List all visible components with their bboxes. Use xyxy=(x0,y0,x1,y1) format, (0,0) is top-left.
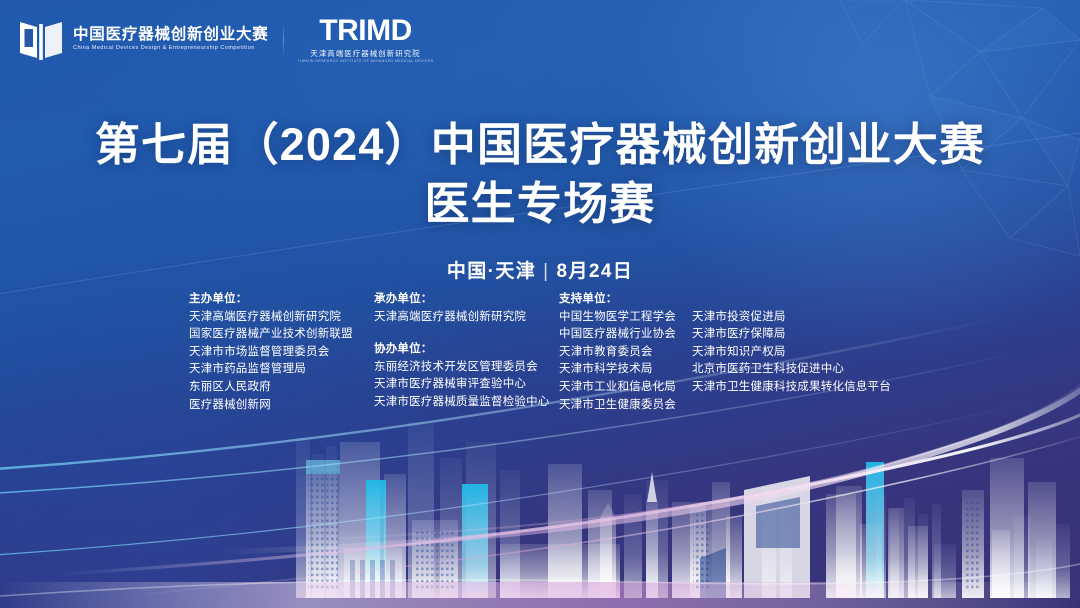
trimd-logo-en: TIANJIN RESEARCH INSTITUTE OF ADVANCED M… xyxy=(298,60,434,64)
competition-logo-cn: 中国医疗器械创新创业大赛 xyxy=(73,27,269,43)
event-poster: 中国医疗器械创新创业大赛 China Medical Devices Desig… xyxy=(0,0,1080,608)
organizer-item: 天津高端医疗器械创新研究院 xyxy=(189,309,374,327)
organizers-column-1: 主办单位： 天津高端医疗器械创新研究院 国家医疗器械产业技术创新联盟 天津市市场… xyxy=(189,291,374,414)
group-heading: 支持单位： xyxy=(559,291,692,309)
group-heading: 承办单位： xyxy=(374,291,559,309)
organizer-item: 天津市知识产权局 xyxy=(692,344,891,362)
organizer-group: 协办单位： 东丽经济技术开发区管理委员会 天津市医疗器械审评查验中心 天津市医疗… xyxy=(374,341,559,411)
organizer-group: 天津市投资促进局 天津市医疗保障局 天津市知识产权局 北京市医药卫生科技促进中心… xyxy=(692,291,891,397)
organizer-item: 天津市医疗器械审评查验中心 xyxy=(374,376,559,394)
event-date: 8月24日 xyxy=(556,261,633,282)
trimd-logo: TRIMD 天津高端医疗器械创新研究院 TIANJIN RESEARCH INS… xyxy=(298,16,434,64)
organizer-item: 天津市卫生健康科技成果转化信息平台 xyxy=(692,379,891,397)
meta-separator: | xyxy=(543,261,549,283)
event-meta: 中国·天津|8月24日 xyxy=(0,256,1080,283)
organizer-item: 天津市投资促进局 xyxy=(692,309,891,327)
organizer-item: 东丽经济技术开发区管理委员会 xyxy=(374,359,559,377)
organizers-block: 主办单位： 天津高端医疗器械创新研究院 国家医疗器械产业技术创新联盟 天津市市场… xyxy=(189,291,891,414)
organizer-item: 天津高端医疗器械创新研究院 xyxy=(374,309,559,327)
organizers-column-2: 承办单位： 天津高端医疗器械创新研究院 协办单位： 东丽经济技术开发区管理委员会… xyxy=(374,291,559,412)
organizer-item: 天津市科学技术局 xyxy=(559,361,692,379)
organizer-item: 国家医疗器械产业技术创新联盟 xyxy=(189,326,374,344)
organizer-item: 天津市医疗器械质量监督检验中心 xyxy=(374,394,559,412)
trimd-logo-cn: 天津高端医疗器械创新研究院 xyxy=(310,50,420,57)
logo-divider xyxy=(283,23,284,57)
organizer-item: 北京市医药卫生科技促进中心 xyxy=(692,361,891,379)
organizers-column-4: 天津市投资促进局 天津市医疗保障局 天津市知识产权局 北京市医药卫生科技促进中心… xyxy=(692,291,891,397)
event-location: 中国·天津 xyxy=(447,261,536,282)
page-title-line1: 第七届（2024）中国医疗器械创新创业大赛 xyxy=(0,118,1080,173)
competition-logo-en: China Medical Devices Design & Entrepren… xyxy=(73,46,269,52)
organizer-group: 支持单位： 中国生物医学工程学会 中国医疗器械行业协会 天津市教育委员会 天津市… xyxy=(559,291,692,414)
city-skyline-graphic xyxy=(0,398,1080,608)
organizer-item: 中国医疗器械行业协会 xyxy=(559,326,692,344)
organizers-column-3: 支持单位： 中国生物医学工程学会 中国医疗器械行业协会 天津市教育委员会 天津市… xyxy=(559,291,692,414)
group-heading: 主办单位： xyxy=(189,291,374,309)
organizer-item: 天津市医疗保障局 xyxy=(692,326,891,344)
group-heading: 协办单位： xyxy=(374,341,559,359)
organizer-item: 中国生物医学工程学会 xyxy=(559,309,692,327)
title-block: 第七届（2024）中国医疗器械创新创业大赛 医生专场赛 xyxy=(0,118,1080,232)
organizer-item: 天津市工业和信息化局 xyxy=(559,379,692,397)
organizer-item: 天津市药品监督管理局 xyxy=(189,361,374,379)
open-book-door-logo-icon xyxy=(18,18,64,62)
organizer-item: 天津市卫生健康委员会 xyxy=(559,397,692,415)
trimd-wordmark: TRIMD xyxy=(319,16,411,46)
competition-logo: 中国医疗器械创新创业大赛 China Medical Devices Desig… xyxy=(18,18,269,62)
organizer-group: 承办单位： 天津高端医疗器械创新研究院 xyxy=(374,291,559,326)
organizer-item: 东丽区人民政府 xyxy=(189,379,374,397)
page-title-line2: 医生专场赛 xyxy=(0,177,1080,232)
organizer-item: 天津市市场监督管理委员会 xyxy=(189,344,374,362)
header-logo-bar: 中国医疗器械创新创业大赛 China Medical Devices Desig… xyxy=(18,16,433,64)
organizer-item: 医疗器械创新网 xyxy=(189,397,374,415)
organizer-group: 主办单位： 天津高端医疗器械创新研究院 国家医疗器械产业技术创新联盟 天津市市场… xyxy=(189,291,374,414)
organizer-item: 天津市教育委员会 xyxy=(559,344,692,362)
